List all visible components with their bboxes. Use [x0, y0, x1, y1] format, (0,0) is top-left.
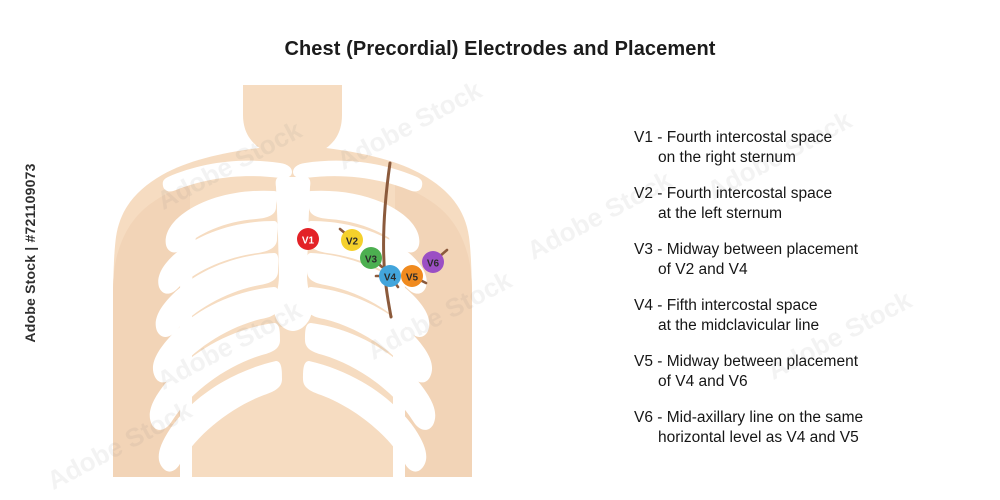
legend-item-v1-line2: on the right sternum: [634, 148, 964, 168]
electrode-v1[interactable]: V1: [297, 228, 319, 250]
legend-item-v4: V4 - Fifth intercostal space at the midc…: [634, 296, 964, 337]
legend-item-v2-line1: V2 - Fourth intercostal space: [634, 184, 964, 204]
legend-item-v3: V3 - Midway between placement of V2 and …: [634, 240, 964, 281]
neck-shape: [243, 85, 342, 153]
electrode-v5-label: V5: [406, 273, 419, 284]
legend-item-v5-line1: V5 - Midway between placement: [634, 352, 964, 372]
legend-item-v6: V6 - Mid-axillary line on the same horiz…: [634, 408, 964, 449]
electrode-v1-label: V1: [302, 236, 315, 247]
electrode-v6[interactable]: V6: [422, 251, 444, 273]
electrode-v2[interactable]: V2: [341, 229, 363, 251]
illustration-page: Chest (Precordial) Electrodes and Placem…: [0, 0, 1000, 500]
page-title: Chest (Precordial) Electrodes and Placem…: [0, 38, 1000, 61]
stock-watermark: Adobe Stock | #721109073: [22, 138, 38, 368]
electrode-v4-label: V4: [384, 273, 397, 284]
legend-item-v2-line2: at the left sternum: [634, 204, 964, 224]
electrode-placement-legend: V1 - Fourth intercostal space on the rig…: [634, 128, 964, 463]
legend-item-v2: V2 - Fourth intercostal space at the lef…: [634, 184, 964, 225]
legend-item-v1: V1 - Fourth intercostal space on the rig…: [634, 128, 964, 169]
legend-item-v6-line1: V6 - Mid-axillary line on the same: [634, 408, 964, 428]
legend-item-v3-line1: V3 - Midway between placement: [634, 240, 964, 260]
legend-item-v4-line1: V4 - Fifth intercostal space: [634, 296, 964, 316]
electrode-v4[interactable]: V4: [379, 265, 401, 287]
legend-item-v6-line2: horizontal level as V4 and V5: [634, 428, 964, 448]
electrode-v3[interactable]: V3: [360, 247, 382, 269]
legend-item-v5-line2: of V4 and V6: [634, 372, 964, 392]
legend-item-v4-line2: at the midclavicular line: [634, 316, 964, 336]
electrode-v2-label: V2: [346, 237, 359, 248]
legend-item-v5: V5 - Midway between placement of V4 and …: [634, 352, 964, 393]
legend-item-v3-line2: of V2 and V4: [634, 260, 964, 280]
chest-anatomy-illustration: V1 V2 V3 V4 V5: [40, 85, 620, 485]
legend-item-v1-line1: V1 - Fourth intercostal space: [634, 128, 964, 148]
electrode-v5[interactable]: V5: [401, 265, 423, 287]
electrode-v6-label: V6: [427, 259, 440, 270]
electrode-v3-label: V3: [365, 255, 378, 266]
